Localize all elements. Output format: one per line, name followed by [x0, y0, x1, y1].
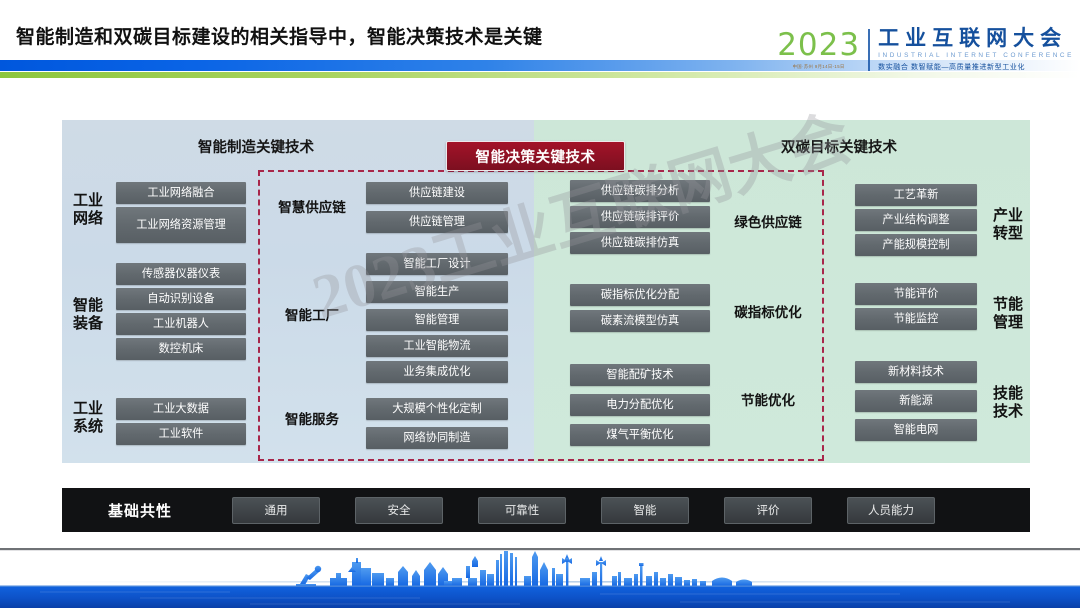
chip-industrial-software[interactable]: 工业软件: [116, 423, 246, 445]
group-label-energy-management: 节能 管理: [984, 296, 1032, 331]
foundation-chip-6[interactable]: 人员能力: [847, 497, 935, 524]
chip-supply-chain-construction[interactable]: 供应链建设: [366, 182, 508, 204]
group-label-energy-saving-optimization: 节能优化: [718, 393, 818, 409]
group-label-smart-factory: 智能工厂: [262, 308, 362, 324]
slide-header: 智能制造和双碳目标建设的相关指导中，智能决策技术是关键 2023 中国·苏州 9…: [0, 0, 1080, 80]
group-label-industrial-system: 工业 系统: [62, 400, 114, 435]
footer-skyline: [0, 548, 1080, 608]
chip-carbon-index-allocation[interactable]: 碳指标优化分配: [570, 284, 710, 306]
foundation-chip-5[interactable]: 评价: [724, 497, 812, 524]
group-label-carbon-index-optimization: 碳指标优化: [718, 305, 818, 321]
chip-cnc-machine[interactable]: 数控机床: [116, 338, 246, 360]
group-label-green-supply-chain: 绿色供应链: [718, 215, 818, 231]
chip-sensor-instrument[interactable]: 传感器仪器仪表: [116, 263, 246, 285]
chip-smart-ore-blending[interactable]: 智能配矿技术: [570, 364, 710, 386]
chip-energy-saving-evaluation[interactable]: 节能评价: [855, 283, 977, 305]
chip-mass-customization[interactable]: 大规模个性化定制: [366, 398, 508, 420]
group-label-smart-service: 智能服务: [262, 412, 362, 428]
logo-text-block: 工业互联网大会 INDUSTRIAL INTERNET CONFERENCE 数…: [878, 28, 1074, 72]
left-section-title: 智能制造关键技术: [198, 136, 314, 157]
logo-divider: [868, 29, 870, 71]
group-label-industrial-network: 工业 网络: [62, 192, 114, 227]
center-ribbon-banner: 智能决策关键技术: [446, 141, 625, 171]
logo-year-subtitle: 中国·苏州 9月14日-15日: [793, 64, 845, 70]
chip-smart-grid[interactable]: 智能电网: [855, 419, 977, 441]
group-label-smart-equipment: 智能 装备: [62, 297, 114, 332]
chip-industrial-robot[interactable]: 工业机器人: [116, 313, 246, 335]
group-label-smart-supply-chain: 智慧供应链: [262, 200, 362, 216]
chip-new-energy[interactable]: 新能源: [855, 390, 977, 412]
foundation-chip-4[interactable]: 智能: [601, 497, 689, 524]
chip-industrial-network-fusion[interactable]: 工业网络融合: [116, 182, 246, 204]
chip-supply-chain-carbon-evaluation[interactable]: 供应链碳排评价: [570, 206, 710, 228]
chip-supply-chain-carbon-simulation[interactable]: 供应链碳排仿真: [570, 232, 710, 254]
chip-industrial-structure-adjust[interactable]: 产业结构调整: [855, 209, 977, 231]
chip-network-collaborative-mfg[interactable]: 网络协同制造: [366, 427, 508, 449]
foundation-chip-1[interactable]: 通用: [232, 497, 320, 524]
conference-logo: 2023 中国·苏州 9月14日-15日 工业互联网大会 INDUSTRIAL …: [777, 22, 1074, 78]
page-title: 智能制造和双碳目标建设的相关指导中，智能决策技术是关键: [16, 22, 543, 49]
group-label-skill-technology: 技能 技术: [984, 385, 1032, 420]
chip-capacity-scale-control[interactable]: 产能规模控制: [855, 234, 977, 256]
chip-smart-production[interactable]: 智能生产: [366, 281, 508, 303]
chip-new-material-tech[interactable]: 新材料技术: [855, 361, 977, 383]
logo-name-cn: 工业互联网大会: [878, 28, 1074, 50]
foundation-title: 基础共性: [108, 500, 172, 521]
chip-industrial-bigdata[interactable]: 工业大数据: [116, 398, 246, 420]
group-label-industry-transformation: 产业 转型: [984, 207, 1032, 242]
logo-year-block: 2023 中国·苏州 9月14日-15日: [777, 30, 860, 70]
foundation-chip-list: 通用安全可靠性智能评价人员能力: [232, 497, 935, 524]
chip-supply-chain-management[interactable]: 供应链管理: [366, 211, 508, 233]
chip-industrial-network-resource-mgmt[interactable]: 工业网络资源管理: [116, 207, 246, 243]
chip-energy-saving-monitoring[interactable]: 节能监控: [855, 308, 977, 330]
chip-carbon-flow-model-simulation[interactable]: 碳素流模型仿真: [570, 310, 710, 332]
chip-auto-identification-device[interactable]: 自动识别设备: [116, 288, 246, 310]
center-ribbon-label: 智能决策关键技术: [476, 146, 596, 167]
foundation-chip-3[interactable]: 可靠性: [478, 497, 566, 524]
right-section-title: 双碳目标关键技术: [781, 136, 897, 157]
skyline-illustration: [0, 548, 1080, 608]
chip-gas-balance-optimization[interactable]: 煤气平衡优化: [570, 424, 710, 446]
foundation-bar: 基础共性 通用安全可靠性智能评价人员能力: [62, 488, 1030, 532]
chip-supply-chain-carbon-analysis[interactable]: 供应链碳排分析: [570, 180, 710, 202]
chip-smart-factory-design[interactable]: 智能工厂设计: [366, 253, 508, 275]
chip-business-integration-optimization[interactable]: 业务集成优化: [366, 361, 508, 383]
chip-smart-management[interactable]: 智能管理: [366, 309, 508, 331]
logo-year: 2023: [777, 30, 860, 61]
chip-industrial-smart-logistics[interactable]: 工业智能物流: [366, 335, 508, 357]
logo-name-en: INDUSTRIAL INTERNET CONFERENCE: [878, 52, 1074, 59]
logo-tagline: 数实融合 数智赋能—高质量推进新型工业化: [878, 62, 1074, 72]
chip-power-allocation-optimization[interactable]: 电力分配优化: [570, 394, 710, 416]
chip-process-innovation[interactable]: 工艺革新: [855, 184, 977, 206]
foundation-chip-2[interactable]: 安全: [355, 497, 443, 524]
